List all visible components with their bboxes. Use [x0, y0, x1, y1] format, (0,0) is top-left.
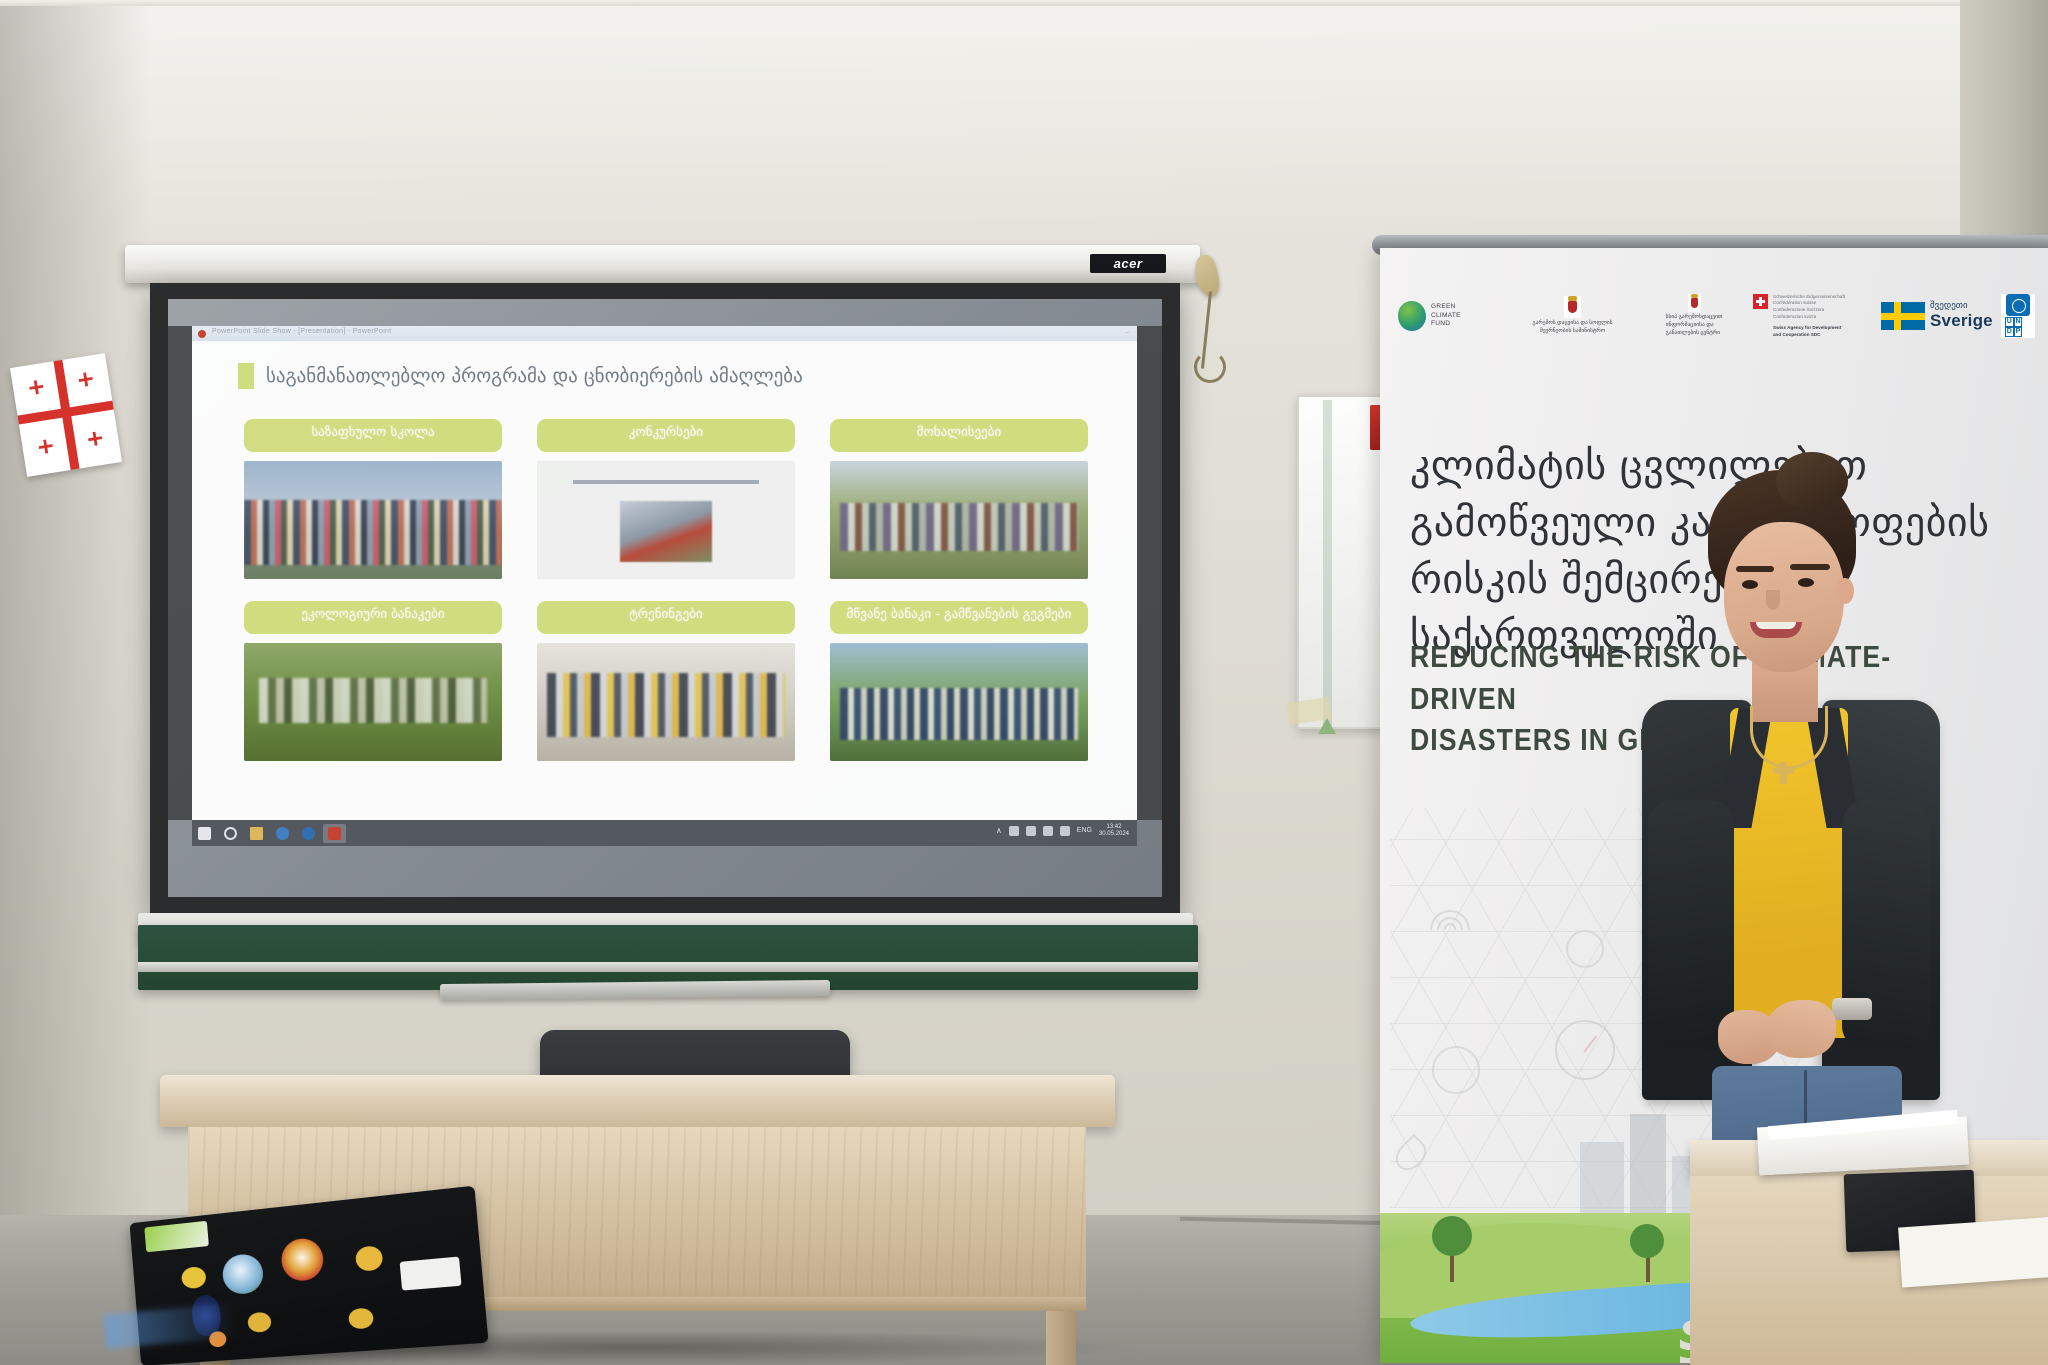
powerpoint-icon — [328, 827, 341, 840]
slide-cell-label: მწვანე ბანაკი - გამწვანების გეგმები — [830, 601, 1088, 634]
green-chalkboard — [138, 925, 1198, 990]
projection-letterbox-left — [168, 326, 192, 820]
desk-top — [160, 1075, 1115, 1127]
slide-cell-label: კონკურსები — [537, 419, 795, 452]
clock-date: 30.05.2024 — [1099, 831, 1129, 838]
powerpoint-window-title: PowerPoint Slide Show - [Presentation] -… — [212, 328, 392, 335]
circle-decoration — [1432, 1046, 1480, 1094]
slide-content: საგანმანათლებლო პროგრამა და ცნობიერების … — [192, 341, 1137, 820]
slide-cell-label: ტრენინგები — [537, 601, 795, 634]
start-icon[interactable] — [198, 827, 211, 840]
slide-title-row: საგანმანათლებლო პროგრამა და ცნობიერების … — [238, 363, 803, 389]
emergency-agency-emblem-icon — [1688, 294, 1701, 312]
minimize-button[interactable]: – — [1125, 329, 1129, 336]
banner-logo-row: GREEN CLIMATE FUND გარემოს დაცვისა და სო… — [1398, 286, 2048, 346]
windows-taskbar[interactable]: ∧ ENG 13:42 30.05.2024 — [192, 820, 1137, 846]
projection-surface: PowerPoint Slide Show - [Presentation] -… — [168, 299, 1162, 897]
nose — [1766, 590, 1780, 610]
powerpoint-icon — [198, 330, 206, 338]
sticker-green-banner — [144, 1221, 209, 1252]
slide-cell: ეკოლოგიური ბანაკები — [244, 601, 502, 761]
language-indicator[interactable]: ENG — [1077, 827, 1092, 834]
slide-cell-label: საზაფხულო სკოლა — [244, 419, 502, 452]
projection-letterbox-right — [1137, 326, 1162, 820]
projection-screen: PowerPoint Slide Show - [Presentation] -… — [150, 283, 1180, 913]
emergency-agency-logo-text: სსიპ გარემოსდაცვით ინფორმაციისა და განათ… — [1666, 314, 1723, 337]
sticker-yellow — [181, 1266, 207, 1289]
projected-powerpoint: PowerPoint Slide Show - [Presentation] -… — [192, 326, 1137, 820]
classroom-presentation-scene: acer PowerPoint Slide Show - [Presentati… — [0, 0, 2048, 1365]
ear — [1836, 578, 1854, 604]
wall-highlight — [0, 0, 2048, 230]
wifi-icon — [1430, 904, 1470, 930]
search-icon[interactable] — [224, 827, 237, 840]
swiss-logo-text: Schweizerische Eidgenossenschaft Confédé… — [1773, 294, 1845, 339]
projection-screen-case: acer — [125, 245, 1200, 283]
undp-letters: U N D P — [2005, 317, 2031, 337]
slide-cell: კონკურსები — [537, 419, 795, 579]
file-explorer-icon[interactable] — [250, 827, 263, 840]
slide-cell-photo-group — [244, 461, 502, 579]
wall-shadow-left — [0, 0, 150, 1365]
slide-cell: ტრენინგები — [537, 601, 795, 761]
edge-icon[interactable] — [276, 827, 289, 840]
cord-loop — [1194, 351, 1226, 383]
sverige-logo-text: შვედეთი Sverige — [1930, 302, 1993, 329]
powerpoint-taskbar-button[interactable] — [323, 824, 346, 843]
slide-cell: საზაფხულო სკოლა — [244, 419, 502, 579]
onedrive-icon[interactable] — [1043, 826, 1053, 836]
sticker-white-label — [400, 1257, 462, 1291]
screen-pull-cord[interactable] — [1196, 255, 1218, 375]
slide-title-accent — [238, 363, 254, 389]
slide-cell-label: ეკოლოგიური ბანაკები — [244, 601, 502, 634]
eye-left — [1742, 580, 1758, 589]
sweden-flag-icon — [1881, 302, 1925, 330]
volume-icon[interactable] — [1060, 826, 1070, 836]
georgia-emergency-agency-logo: სსიპ გარემოსდაცვით ინფორმაციისა და განათ… — [1635, 294, 1753, 337]
hair-bun — [1776, 452, 1848, 510]
laptop-with-stickers[interactable] — [125, 1205, 505, 1365]
face — [1724, 522, 1844, 672]
clock[interactable]: 13:42 30.05.2024 — [1099, 824, 1129, 838]
globe-icon — [1398, 301, 1426, 331]
sweden-sverige-logo: შვედეთი Sverige — [1881, 302, 2001, 330]
georgia-coat-of-arms-icon — [1564, 296, 1581, 318]
georgian-flag — [10, 353, 122, 477]
clock-time: 13:42 — [1099, 824, 1129, 831]
sticker-yellow — [355, 1245, 384, 1272]
swiss-confederation-logo: Schweizerische Eidgenossenschaft Confédé… — [1753, 294, 1881, 339]
mepa-logo-text: გარემოს დაცვისა და სოფლის მეურნეობის სამ… — [1532, 320, 1612, 335]
network-icon[interactable] — [1026, 826, 1036, 836]
taskbar-tray: ∧ ENG 13:42 30.05.2024 — [996, 824, 1129, 838]
swiss-cross-icon — [1753, 294, 1768, 309]
slide-grid-row-2: ეკოლოგიური ბანაკები ტრენინგები მწვანე ბა… — [244, 601, 1089, 761]
arm-left — [1648, 800, 1734, 1050]
powerpoint-titlebar: PowerPoint Slide Show - [Presentation] -… — [192, 326, 1137, 342]
slide-cell-photo-workshop — [537, 643, 795, 761]
slide-cell: მოხალისეები — [830, 419, 1088, 579]
sticker-yellow — [348, 1307, 374, 1329]
taskbar-icons — [198, 824, 346, 843]
teeth — [1756, 622, 1796, 629]
hand-right — [1766, 1000, 1836, 1058]
sticker-emblem — [280, 1237, 325, 1283]
slide-cell-photo-field — [244, 643, 502, 761]
desk-leg — [1046, 1311, 1076, 1365]
slide-title: საგანმანათლებლო პროგრამა და ცნობიერების … — [266, 365, 803, 387]
slide-cell: მწვანე ბანაკი - გამწვანების გეგმები — [830, 601, 1088, 761]
green-climate-fund-logo: GREEN CLIMATE FUND — [1398, 301, 1510, 331]
slide-cell-label: მოხალისეები — [830, 419, 1088, 452]
undp-logo: U N D P — [2001, 294, 2035, 338]
chalkboard-top-lip — [138, 962, 1198, 972]
georgia-mepa-logo: გარემოს დაცვისა და სოფლის მეურნეობის სამ… — [1510, 296, 1635, 335]
slide-photo-grid: საზაფხულო სკოლა კონკურსები მოხალისეები — [244, 419, 1089, 783]
cord-knot — [1192, 253, 1222, 299]
acer-brand-label: acer — [1090, 254, 1166, 273]
antivirus-icon[interactable] — [1009, 826, 1019, 836]
eye-right — [1798, 578, 1814, 587]
whiteboard-clip — [1323, 400, 1332, 730]
ceiling-edge — [0, 0, 2048, 6]
slide-grid-row-1: საზაფხულო სკოლა კონკურსები მოხალისეები — [244, 419, 1089, 579]
loose-paper[interactable] — [1898, 1216, 2048, 1287]
eyebrow-right — [1790, 564, 1830, 570]
chevron-up-icon[interactable]: ∧ — [996, 826, 1002, 835]
slide-cell-photo-team — [830, 643, 1088, 761]
slide-cell-photo-poster — [537, 461, 795, 579]
wristwatch — [1832, 998, 1872, 1020]
store-icon[interactable] — [302, 827, 315, 840]
eyebrow-left — [1736, 566, 1774, 572]
sticker-globe — [221, 1253, 264, 1296]
undp-emblem-icon: U N D P — [2001, 294, 2035, 338]
slide-cell-photo-volunteers — [830, 461, 1088, 579]
sticker-yellow — [247, 1311, 272, 1333]
tree-icon — [1432, 1216, 1472, 1256]
cross-pendant-icon — [1780, 762, 1787, 784]
gcf-logo-text: GREEN CLIMATE FUND — [1431, 303, 1461, 329]
